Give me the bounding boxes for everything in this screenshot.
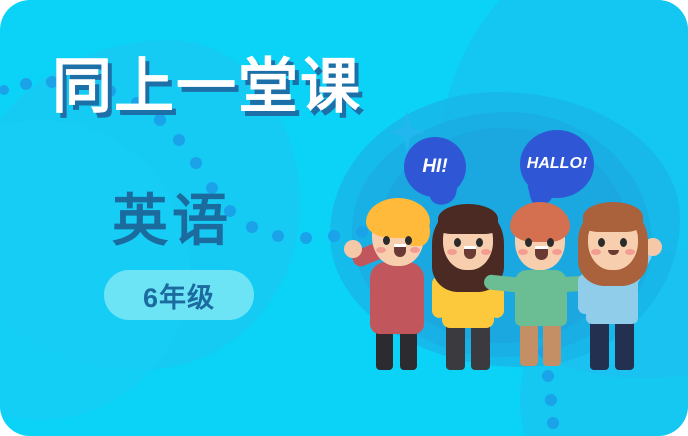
torso: [370, 262, 424, 334]
kids-illustration: [358, 180, 658, 370]
trail-dot: [20, 78, 32, 90]
eye: [525, 238, 532, 247]
cheek: [481, 249, 491, 255]
torso: [515, 270, 567, 326]
eye: [405, 236, 412, 245]
leg: [543, 320, 561, 366]
trail-dot: [545, 394, 557, 406]
cheek: [591, 249, 601, 255]
cheek: [376, 247, 386, 253]
trail-dot: [0, 85, 9, 95]
tooth: [535, 246, 548, 249]
leg: [520, 320, 538, 366]
eye: [547, 238, 554, 247]
eye: [476, 238, 483, 247]
cheek: [410, 247, 420, 253]
leg: [471, 322, 490, 370]
trail-dot: [542, 370, 554, 382]
cheek: [552, 249, 562, 255]
trail-dot: [272, 230, 284, 242]
tooth: [394, 244, 406, 247]
trail-dot: [173, 134, 185, 146]
character-brown-hair-girl-waving: [570, 180, 658, 370]
trail-dot: [547, 417, 559, 429]
leg: [615, 320, 634, 370]
subject-title: 英语: [112, 190, 232, 252]
cheek: [625, 249, 635, 255]
eye: [454, 238, 461, 247]
leg: [590, 320, 609, 370]
hair-fringe: [583, 202, 643, 232]
page-title: 同上一堂课: [52, 52, 362, 121]
eye: [598, 238, 605, 247]
leg: [446, 322, 465, 370]
grade-badge: 6年级: [104, 270, 254, 320]
trail-dot: [328, 230, 340, 242]
trail-dot: [190, 157, 202, 169]
cheek: [447, 249, 457, 255]
hair-fringe: [438, 204, 498, 234]
leg: [376, 328, 393, 370]
tooth: [464, 246, 476, 249]
grade-badge-label: 6年级: [143, 276, 215, 315]
hand: [344, 240, 362, 258]
trail-dot: [300, 232, 312, 244]
eye: [620, 238, 627, 247]
cheek: [518, 249, 528, 255]
trail-dot: [246, 221, 258, 233]
eye: [383, 236, 390, 245]
hair: [510, 202, 570, 242]
leg: [400, 328, 417, 370]
course-banner-card: 同上一堂课 英语 6年级 HI! HALLO!: [0, 0, 688, 436]
